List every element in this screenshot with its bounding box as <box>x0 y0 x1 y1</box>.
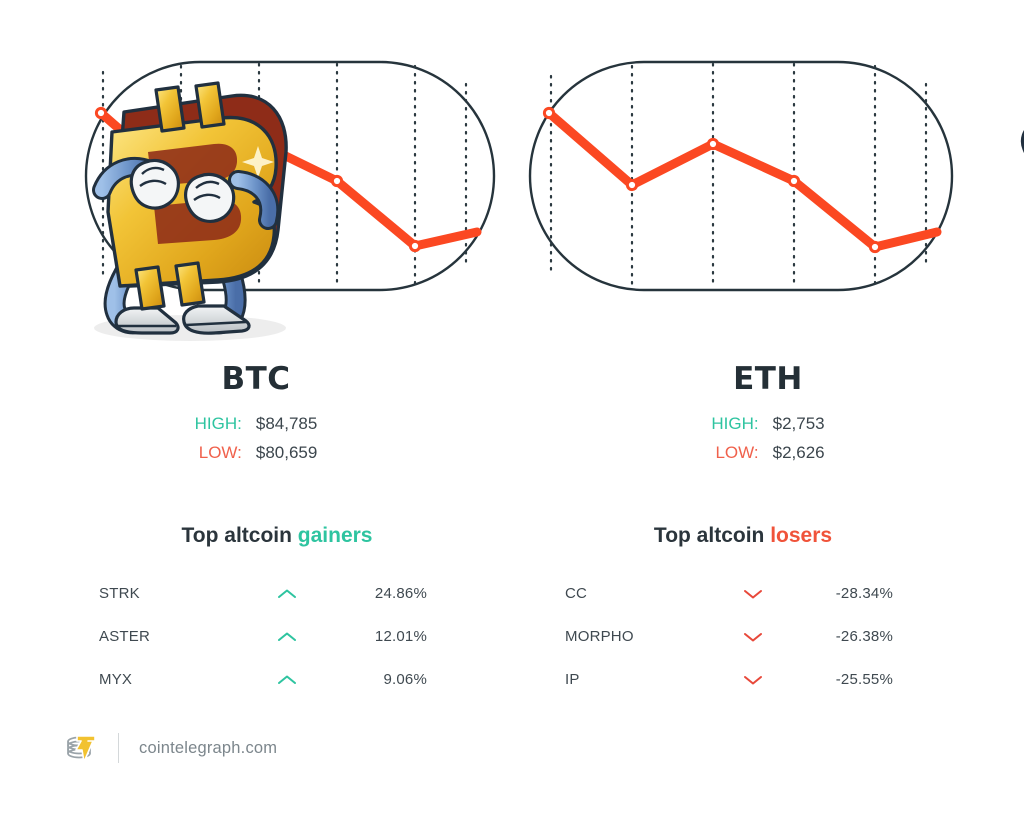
chevron-up-icon <box>257 674 317 686</box>
high-label: HIGH: <box>195 410 256 439</box>
chart-panel-btc <box>0 0 512 350</box>
mascot-hand-right <box>186 174 234 221</box>
ticker-symbol-eth: ETH <box>512 362 1024 396</box>
coin-symbol: MORPHO <box>523 628 723 645</box>
list-item[interactable]: IP -25.55% <box>523 658 963 701</box>
coin-symbol: STRK <box>57 585 257 602</box>
chevron-up-icon <box>257 588 317 600</box>
eth-price-chart <box>512 0 1024 350</box>
chart-frame-pill <box>530 62 952 290</box>
ethereum-mascot <box>1006 25 1024 345</box>
high-low-table-btc: HIGH: $84,785 LOW: $80,659 <box>195 410 318 467</box>
gainers-title-accent: gainers <box>298 524 373 547</box>
low-label: LOW: <box>711 439 772 468</box>
low-value: $2,626 <box>773 439 825 468</box>
list-item[interactable]: MORPHO -26.38% <box>523 615 963 658</box>
bitcoin-mascot <box>72 70 302 345</box>
high-low-table-eth: HIGH: $2,753 LOW: $2,626 <box>711 410 824 467</box>
mascot-hand-left <box>131 160 178 208</box>
chevron-up-icon <box>257 631 317 643</box>
coin-change: 12.01% <box>317 628 427 645</box>
top-altcoin-losers: Top altcoin losers CC -28.34% MORPHO <box>523 524 963 701</box>
losers-title-prefix: Top altcoin <box>654 524 770 547</box>
list-item[interactable]: CC -28.34% <box>523 572 963 615</box>
high-row: HIGH: $84,785 <box>195 410 318 439</box>
low-row: LOW: $2,626 <box>711 439 824 468</box>
gainers-list: STRK 24.86% ASTER 12.01% MYX <box>57 572 497 701</box>
chevron-down-icon <box>723 674 783 686</box>
cointelegraph-logo-icon <box>62 728 102 768</box>
gainers-title-prefix: Top altcoin <box>182 524 298 547</box>
coin-symbol: IP <box>523 671 723 688</box>
infographic-page: BTC HIGH: $84,785 LOW: $80,659 ETH HIGH:… <box>0 0 1024 826</box>
mascot-shoe-left <box>116 308 178 333</box>
price-line <box>549 113 937 247</box>
chevron-down-icon <box>723 588 783 600</box>
losers-title: Top altcoin losers <box>523 524 963 548</box>
ticker-summary-btc: BTC HIGH: $84,785 LOW: $80,659 <box>0 362 512 467</box>
grid-lines <box>551 64 926 288</box>
low-row: LOW: $80,659 <box>195 439 318 468</box>
coin-change: -26.38% <box>783 628 893 645</box>
coin-symbol: CC <box>523 585 723 602</box>
losers-list: CC -28.34% MORPHO -26.38% IP <box>523 572 963 701</box>
coin-change: -25.55% <box>783 671 893 688</box>
low-value: $80,659 <box>256 439 317 468</box>
coin-change: -28.34% <box>783 585 893 602</box>
high-value: $2,753 <box>773 410 825 439</box>
list-item[interactable]: MYX 9.06% <box>57 658 497 701</box>
ticker-summary-eth: ETH HIGH: $2,753 LOW: $2,626 <box>512 362 1024 467</box>
gainers-title: Top altcoin gainers <box>57 524 497 548</box>
coin-symbol: ASTER <box>57 628 257 645</box>
footer: cointelegraph.com <box>62 726 277 770</box>
high-row: HIGH: $2,753 <box>711 410 824 439</box>
footer-url: cointelegraph.com <box>139 739 277 758</box>
ticker-symbol-btc: BTC <box>0 362 512 396</box>
low-label: LOW: <box>195 439 256 468</box>
top-altcoin-gainers: Top altcoin gainers STRK 24.86% ASTER <box>57 524 497 701</box>
losers-title-accent: losers <box>770 524 832 547</box>
chevron-down-icon <box>723 631 783 643</box>
coin-change: 9.06% <box>317 671 427 688</box>
coin-change: 24.86% <box>317 585 427 602</box>
high-label: HIGH: <box>711 410 772 439</box>
list-item[interactable]: STRK 24.86% <box>57 572 497 615</box>
coin-symbol: MYX <box>57 671 257 688</box>
high-value: $84,785 <box>256 410 317 439</box>
chart-panel-eth <box>512 0 1024 350</box>
footer-divider <box>118 733 119 763</box>
charts-row <box>0 0 1024 350</box>
list-item[interactable]: ASTER 12.01% <box>57 615 497 658</box>
